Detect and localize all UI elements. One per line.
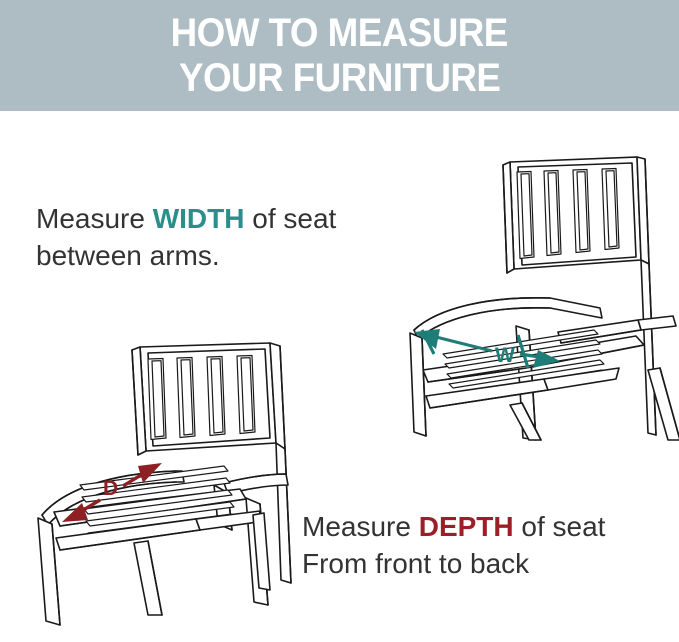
header-title-line-2: YOUR FURNITURE (179, 56, 500, 101)
depth-caption-suffix: of seat (514, 511, 606, 542)
width-chair-illustration: W (398, 140, 679, 440)
width-caption-line-2: between arms. (36, 240, 220, 271)
header-title-line-1: HOW TO MEASURE (171, 11, 508, 56)
width-caption: Measure WIDTH of seat between arms. (36, 200, 336, 274)
how-to-measure-infographic: HOW TO MEASURE YOUR FURNITURE Measure WI… (0, 0, 679, 642)
chair-rear-slanted-leg (134, 541, 162, 615)
depth-dimension-label: D (103, 477, 118, 500)
chair-right-back-post (270, 343, 291, 583)
depth-caption-line-2: From front to back (302, 548, 529, 579)
depth-keyword: DEPTH (419, 511, 514, 542)
width-caption-suffix: of seat (244, 203, 336, 234)
depth-chair-illustration: D (18, 325, 318, 630)
width-keyword: WIDTH (153, 203, 245, 234)
chair-rear-slanted-leg (510, 403, 541, 440)
chair-left-front-post (38, 518, 60, 625)
width-chair-svg: W (398, 140, 679, 440)
chair-left-front-post (410, 333, 426, 436)
depth-caption: Measure DEPTH of seat From front to back (302, 508, 605, 582)
width-caption-prefix: Measure (36, 203, 153, 234)
chair-rear-posts (637, 157, 656, 435)
depth-caption-prefix: Measure (302, 511, 419, 542)
header-banner: HOW TO MEASURE YOUR FURNITURE (0, 0, 679, 111)
depth-chair-svg: D (18, 325, 318, 630)
width-dimension-label: W (495, 344, 515, 367)
